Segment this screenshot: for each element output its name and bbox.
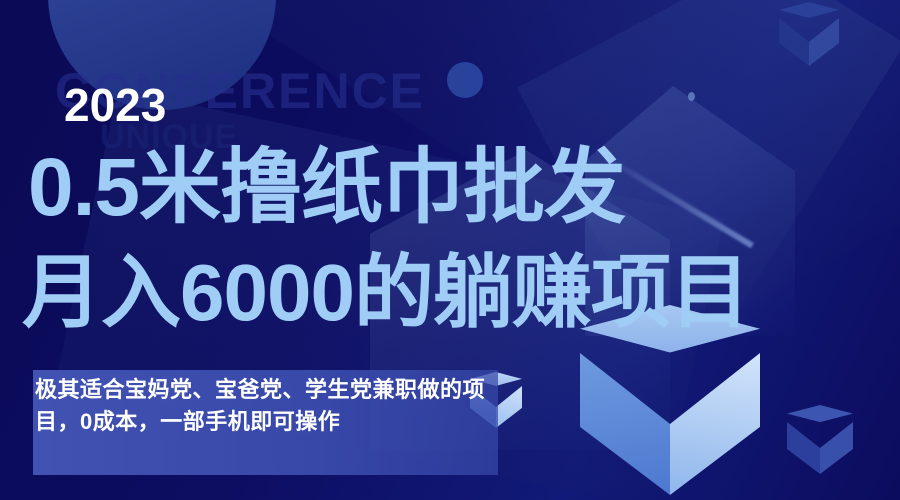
body-description-text: 极其适合宝妈党、宝爸党、学生党兼职做的项目，0成本，一部手机即可操作 <box>33 372 495 438</box>
cube-bottom-right-icon <box>787 405 853 473</box>
cube-top-right-icon <box>779 2 839 64</box>
headline-line-2: 月入6000的躺赚项目 <box>22 253 749 333</box>
year-label: 2023 <box>64 82 166 128</box>
small-circle-decoration-icon <box>447 62 483 98</box>
headline-line-1: 0.5米撸纸巾批发 <box>28 147 625 229</box>
poster-canvas: CONFERENCE UNIQUE 2023 0.5米撸纸巾批发 月入6000的… <box>0 0 900 500</box>
